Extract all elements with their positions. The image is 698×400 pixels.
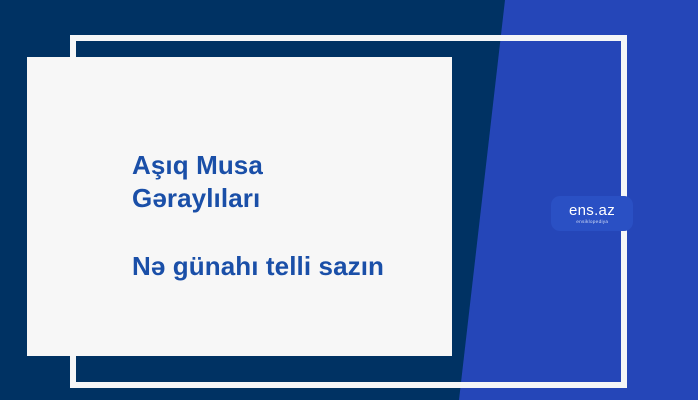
logo-subtext: ensiklopediya [576,220,608,225]
subtitle-line-1: Nə günahı telli sazın [132,250,462,283]
content-card: Aşıq Musa Gəraylıları Nə günahı telli sa… [27,57,452,356]
card-text-block: Aşıq Musa Gəraylıları Nə günahı telli sa… [132,149,462,283]
ensaz-logo-badge[interactable]: ens.az ensiklopediya [551,196,633,231]
slide-canvas: Aşıq Musa Gəraylıları Nə günahı telli sa… [0,0,698,400]
title-line-1: Aşıq Musa [132,149,462,182]
logo-wordmark: ens.az [569,203,615,218]
subtitle-block: Nə günahı telli sazın [132,250,462,283]
title-line-2: Gəraylıları [132,182,462,215]
